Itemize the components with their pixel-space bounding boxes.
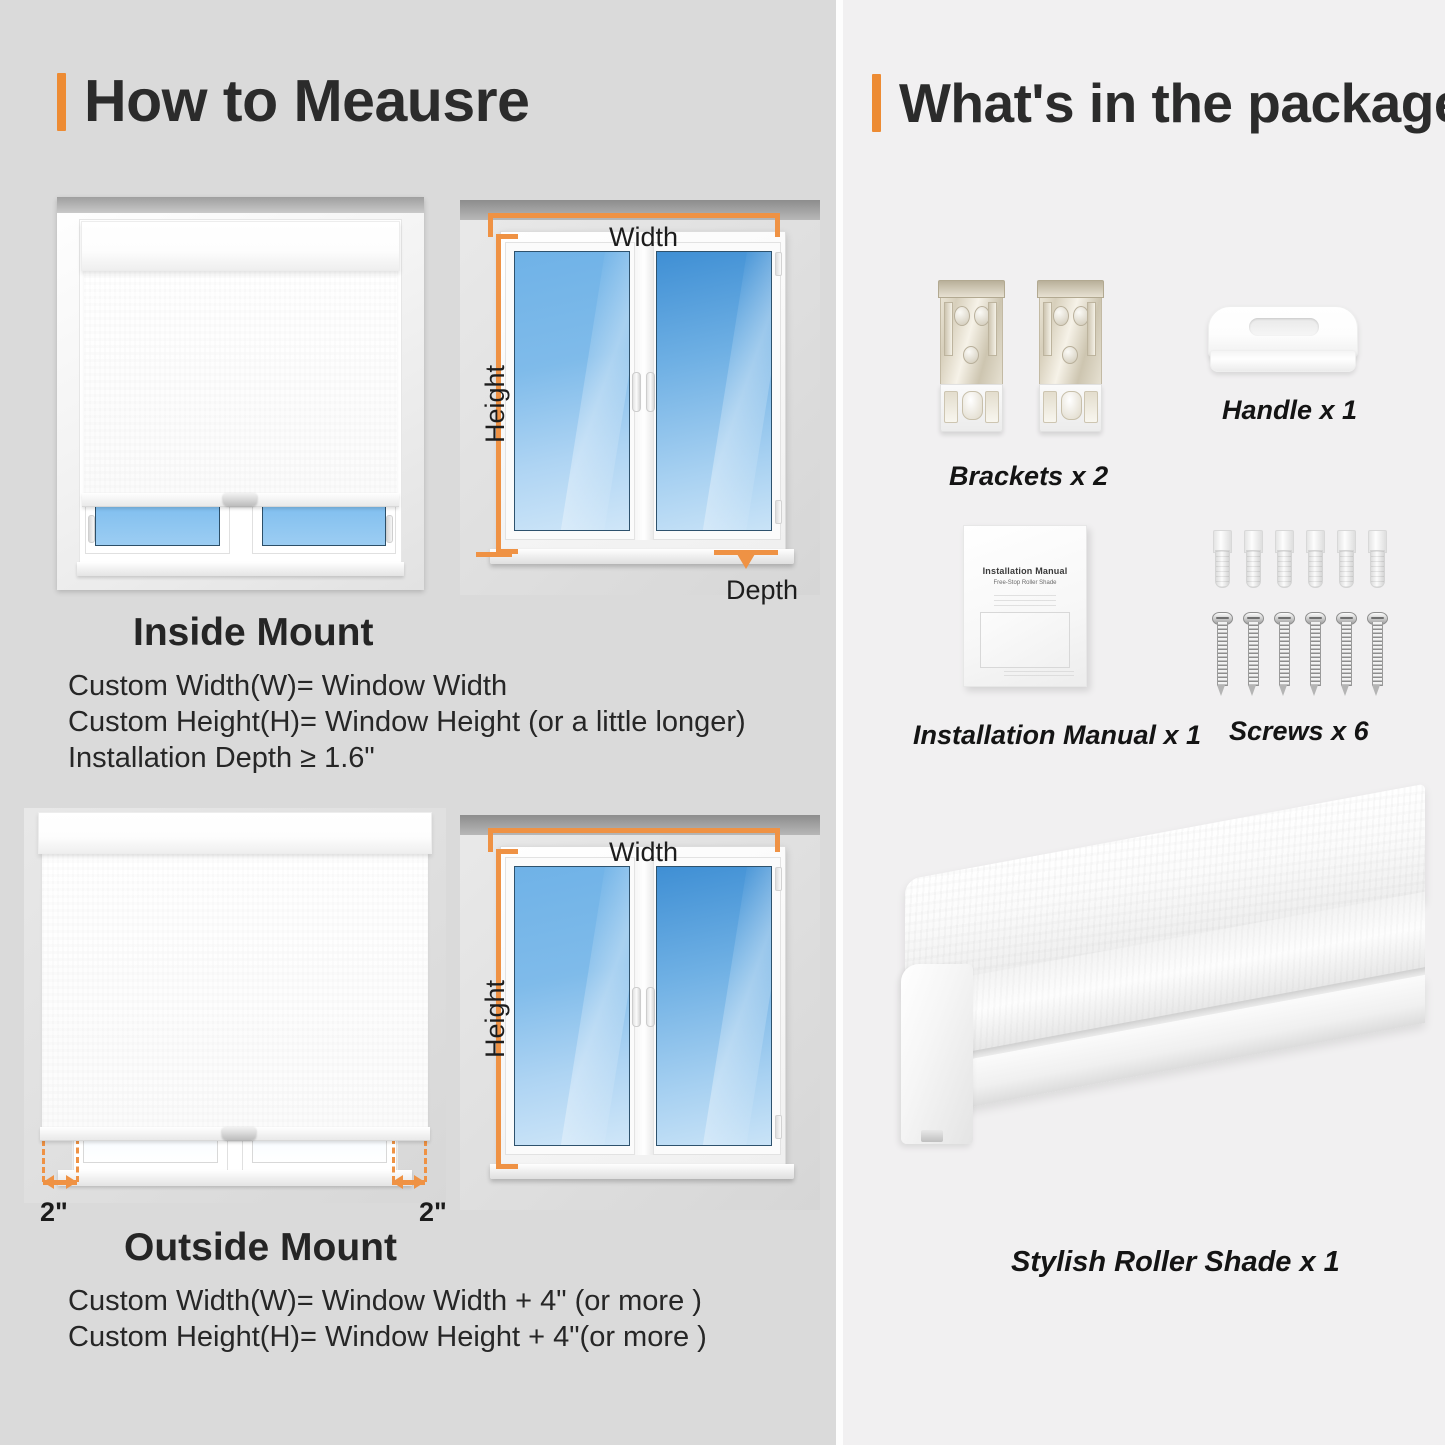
handle-label: Handle x 1	[1222, 395, 1357, 426]
window-frame	[500, 231, 786, 551]
height-measure-cap-top	[496, 849, 518, 854]
screw-icon	[1336, 612, 1355, 696]
bracket-hole-a	[954, 306, 970, 326]
handle-lip	[1210, 350, 1356, 372]
window-handle-left[interactable]	[632, 372, 641, 412]
screw-tip	[1310, 685, 1318, 696]
bracket-hole-a	[1053, 306, 1069, 326]
bracket-base	[940, 384, 1003, 432]
bracket-top-flange	[938, 280, 1005, 298]
window-hinge-bottom	[775, 1115, 782, 1139]
screw-tip	[1279, 685, 1287, 696]
height-label: Height	[480, 980, 511, 1058]
manual-cover-title: Installation Manual	[964, 566, 1086, 576]
screw-tip	[1217, 685, 1225, 696]
window-top-cap	[57, 197, 424, 213]
screw-icon	[1243, 612, 1262, 696]
shade-fabric	[84, 267, 397, 495]
window-sash-right	[647, 857, 781, 1155]
bracket-rib-right	[985, 391, 999, 423]
bracket-slot-right	[988, 302, 997, 356]
overhang-arrow-right-b	[414, 1175, 425, 1189]
anchor-body	[1215, 550, 1230, 588]
brackets-label: Brackets x 2	[949, 461, 1108, 492]
height-measure-base	[476, 552, 512, 557]
overhang-label-left: 2"	[40, 1197, 68, 1228]
window-handle-right[interactable]	[646, 987, 655, 1027]
inside-mount-spec-3: Installation Depth ≥ 1.6"	[68, 742, 375, 775]
screw-shaft	[1279, 622, 1290, 686]
shade-end-cap	[901, 964, 973, 1144]
package-heading: What's in the package	[872, 74, 1445, 132]
bracket-rib-right	[1084, 391, 1098, 423]
bracket-slot-left	[1043, 302, 1052, 356]
wall-anchor-icon	[1274, 530, 1293, 586]
bracket-center-slot	[1061, 391, 1082, 420]
handle-grip-slot	[1249, 318, 1319, 336]
window-sash-right	[647, 242, 781, 540]
wall-anchor-icon	[1336, 530, 1355, 586]
how-to-measure-heading-text: How to Meausre	[84, 72, 529, 131]
inside-mount-illustration	[57, 197, 424, 590]
overhang-arrow-left-b	[66, 1175, 77, 1189]
screw-shaft	[1310, 622, 1321, 686]
infographic-page: How to Meausre What's in the package	[0, 0, 1445, 1445]
manual-label: Installation Manual x 1	[913, 720, 1201, 751]
accent-bar-icon	[872, 74, 881, 132]
handle-icon	[1208, 306, 1356, 374]
accent-bar-icon	[57, 73, 66, 131]
bracket-hole-c	[1062, 346, 1078, 364]
anchor-body	[1370, 550, 1385, 588]
glass-pane-right	[656, 866, 772, 1146]
width-measure-line	[488, 213, 780, 218]
manual-cover-footer	[1004, 668, 1074, 676]
window-latch-right	[386, 515, 393, 543]
outside-mount-illustration	[24, 808, 446, 1203]
overhang-arrow-right-a	[392, 1175, 403, 1189]
bracket-center-slot	[962, 391, 983, 420]
manual-icon: Installation Manual Free-Stop Roller Sha…	[963, 525, 1087, 687]
glass-pane-left	[514, 866, 630, 1146]
screw-icon	[1305, 612, 1324, 696]
glass-pane-left	[514, 251, 630, 531]
screw-shaft	[1341, 622, 1352, 686]
height-measure-cap-bottom	[496, 1164, 518, 1169]
height-measure-cap-top	[496, 234, 518, 239]
width-label: Width	[609, 222, 678, 253]
bracket-rib-left	[944, 391, 958, 423]
anchor-body	[1339, 550, 1354, 588]
anchor-body	[1308, 550, 1323, 588]
width-measure-cap-left	[488, 828, 493, 852]
screw-shaft	[1372, 622, 1383, 686]
anchor-body	[1246, 550, 1261, 588]
bracket-base	[1039, 384, 1102, 432]
width-measure-cap-right	[775, 213, 780, 237]
panel-divider	[836, 0, 843, 1445]
window-sill	[77, 562, 404, 576]
shade-valance	[81, 221, 400, 271]
manual-cover-subtitle: Free-Stop Roller Shade	[964, 580, 1086, 586]
inside-mount-dimension-diagram: Width Height Depth	[460, 200, 820, 595]
window-hinge-bottom	[775, 500, 782, 524]
screw-shaft	[1248, 622, 1259, 686]
manual-cover-lines	[994, 594, 1056, 606]
window-sill	[58, 1170, 412, 1186]
window-hinge-top	[775, 867, 782, 891]
bracket-icon	[940, 280, 1001, 432]
screw-shaft	[1217, 622, 1228, 686]
depth-label: Depth	[726, 575, 798, 606]
width-measure-cap-left	[488, 213, 493, 237]
window-handle-right[interactable]	[646, 372, 655, 412]
window-latch-left	[88, 515, 95, 543]
shade-pull-handle[interactable]	[222, 1127, 256, 1140]
bracket-hole-c	[963, 346, 979, 364]
outside-mount-spec-2: Custom Height(H)= Window Height + 4"(or …	[68, 1321, 707, 1354]
wall-anchor-icon	[1367, 530, 1386, 586]
bracket-slot-right	[1087, 302, 1096, 356]
screw-tip	[1341, 685, 1349, 696]
shade-valance	[38, 812, 432, 854]
package-heading-text: What's in the package	[899, 76, 1445, 131]
outside-mount-title: Outside Mount	[124, 1226, 397, 1270]
screw-icon	[1212, 612, 1231, 696]
window-hinge-top	[775, 252, 782, 276]
window-frame	[500, 846, 786, 1166]
screw-icon	[1367, 612, 1386, 696]
wall-anchor-icon	[1212, 530, 1231, 586]
window-sash-left	[505, 242, 639, 540]
screw-tip	[1248, 685, 1256, 696]
wall-anchor-icon	[1305, 530, 1324, 586]
inside-mount-spec-1: Custom Width(W)= Window Width	[68, 670, 507, 703]
width-measure-line	[488, 828, 780, 833]
screws-label: Screws x 6	[1229, 716, 1369, 747]
bracket-rib-left	[1043, 391, 1057, 423]
width-label: Width	[609, 837, 678, 868]
window-handle-left[interactable]	[632, 987, 641, 1027]
overhang-label-right: 2"	[419, 1197, 447, 1228]
screw-tip	[1372, 685, 1380, 696]
window-sill	[490, 1164, 794, 1179]
shade-end-cap-lip	[921, 1130, 943, 1142]
glass-pane-right	[656, 251, 772, 531]
shade-fabric	[42, 851, 428, 1129]
inside-mount-spec-2: Custom Height(H)= Window Height (or a li…	[68, 706, 746, 739]
manual-cover-illustration	[980, 612, 1070, 668]
wall-anchor-icon	[1243, 530, 1262, 586]
how-to-measure-heading: How to Meausre	[57, 72, 529, 131]
window-sash-left	[505, 857, 639, 1155]
anchor-body	[1277, 550, 1292, 588]
bracket-icon	[1039, 280, 1100, 432]
bracket-slot-left	[944, 302, 953, 356]
outside-mount-dimension-diagram: Width Height	[460, 815, 820, 1210]
roller-shade-icon	[905, 880, 1435, 1210]
width-measure-cap-right	[775, 828, 780, 852]
outside-mount-spec-1: Custom Width(W)= Window Width + 4" (or m…	[68, 1285, 702, 1318]
screw-icon	[1274, 612, 1293, 696]
overhang-arrow-left-a	[43, 1175, 54, 1189]
inside-mount-title: Inside Mount	[133, 611, 373, 655]
shade-pull-handle[interactable]	[223, 493, 257, 506]
depth-measure-arrow	[737, 554, 755, 569]
bracket-top-flange	[1037, 280, 1104, 298]
roller-shade-label: Stylish Roller Shade x 1	[1011, 1246, 1340, 1279]
height-label: Height	[480, 365, 511, 443]
